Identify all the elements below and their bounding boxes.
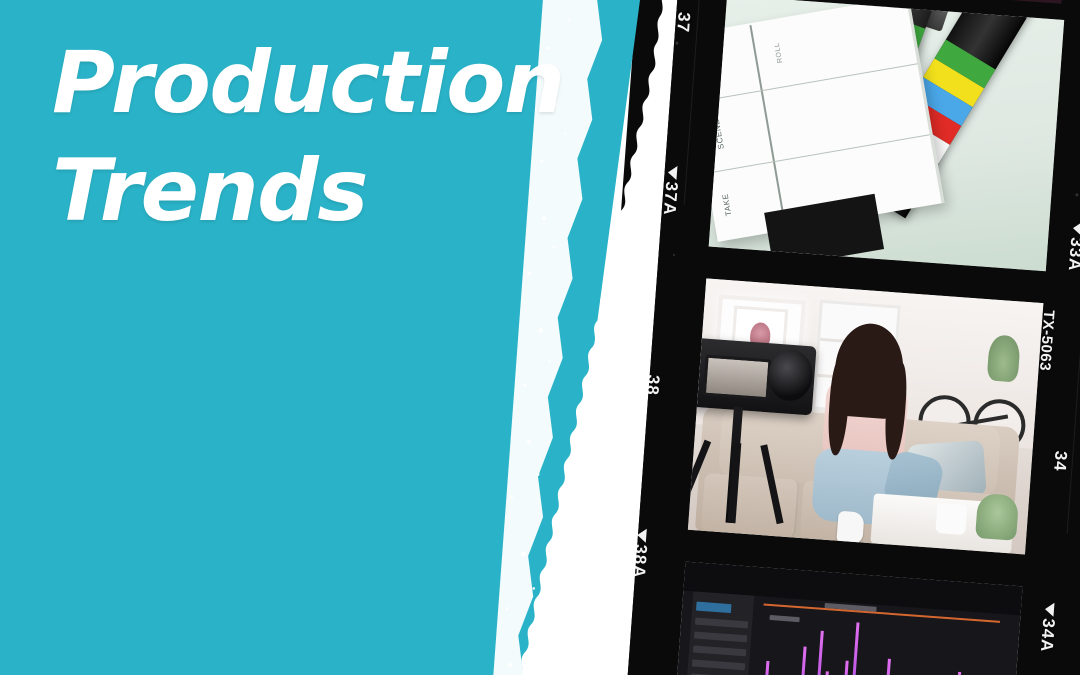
editor-list-row [695, 617, 749, 628]
poster-canvas: ROLL ROLL SCENE TAKE [0, 0, 1080, 675]
tripod-leg [761, 444, 784, 524]
film-frame-clapperboard: ROLL ROLL SCENE TAKE [709, 0, 1065, 271]
film-mark-label: TX-5063 [1036, 309, 1057, 371]
photo-vlogger [688, 278, 1044, 554]
film-mark-label: 33A [1065, 237, 1080, 272]
clapper-label-roll-right: ROLL [773, 42, 783, 64]
person-shoe [836, 510, 865, 544]
film-speck [675, 42, 678, 45]
editor-timeline [746, 607, 1019, 675]
film-speck [1075, 193, 1078, 196]
editor-list-row [694, 631, 748, 642]
camera-lens [766, 348, 813, 402]
film-edge-mark-stock-code: TX-5063 [1036, 309, 1057, 371]
title-line-1: Production [52, 34, 622, 134]
photo-video-editor [672, 562, 1022, 675]
film-mark-label: 37 [673, 11, 693, 33]
camera-body [690, 338, 816, 416]
photo-clapperboard: ROLL ROLL SCENE TAKE [709, 0, 1065, 271]
film-speck [673, 254, 675, 256]
film-mark-label: 37A [660, 181, 681, 216]
clapper-label-scene: SCENE [712, 119, 726, 151]
editor-selected-item [696, 601, 732, 613]
vlogger-person [808, 327, 922, 515]
film-edge-mark-34: 34 [1049, 450, 1070, 472]
film-speck [642, 442, 645, 445]
film-mark-label: 38 [643, 374, 663, 396]
film-mark-label: 34 [1050, 450, 1070, 472]
film-frame-vlogger [688, 278, 1044, 554]
film-scratch [1067, 354, 1080, 534]
film-mark-label: 34A [1037, 618, 1058, 653]
filmstrip: ROLL ROLL SCENE TAKE [583, 0, 1080, 675]
triangle-marker-icon [1044, 602, 1054, 617]
film-frame-video-editor [672, 562, 1022, 675]
triangle-marker-icon [1072, 221, 1080, 236]
title-line-2: Trends [52, 142, 622, 242]
audio-waveform-bar [812, 631, 824, 675]
clapper-label-roll: ROLL [709, 54, 710, 79]
audio-waveform-bar [881, 658, 891, 675]
audio-waveform-bar [839, 661, 849, 675]
film-mark-label: 38A [629, 544, 650, 579]
film-edge-mark-37a: 37A [659, 165, 683, 217]
film-edge-mark-38: 38 [642, 374, 663, 396]
table-plant [975, 493, 1019, 541]
film-edge-mark-38a: 38A [628, 528, 652, 580]
audio-waveform-bar [846, 622, 859, 675]
page-title: Production Trends [52, 34, 622, 242]
triangle-marker-icon [637, 528, 647, 543]
video-camera-rig [688, 338, 817, 528]
clapper-label-take: TAKE [721, 193, 734, 217]
editor-list-row [692, 659, 746, 670]
film-edge-mark-37: 37 [672, 11, 693, 33]
tripod-leg [688, 440, 712, 517]
film-edge-mark-33a: 33A [1064, 221, 1080, 273]
audio-waveform-bar [796, 647, 807, 675]
audio-waveform-bar [760, 661, 769, 675]
film-edge-mark-34a: 34A [1036, 602, 1060, 654]
clapper-rivet [907, 0, 918, 3]
camera-screen [703, 354, 772, 400]
editor-list-row [693, 645, 747, 656]
audio-waveform-bar [820, 671, 829, 675]
filmstrip-body: ROLL ROLL SCENE TAKE [583, 0, 1080, 675]
editor-side-panel [682, 591, 754, 675]
coffee-mug [935, 503, 968, 535]
triangle-marker-icon [667, 165, 677, 180]
